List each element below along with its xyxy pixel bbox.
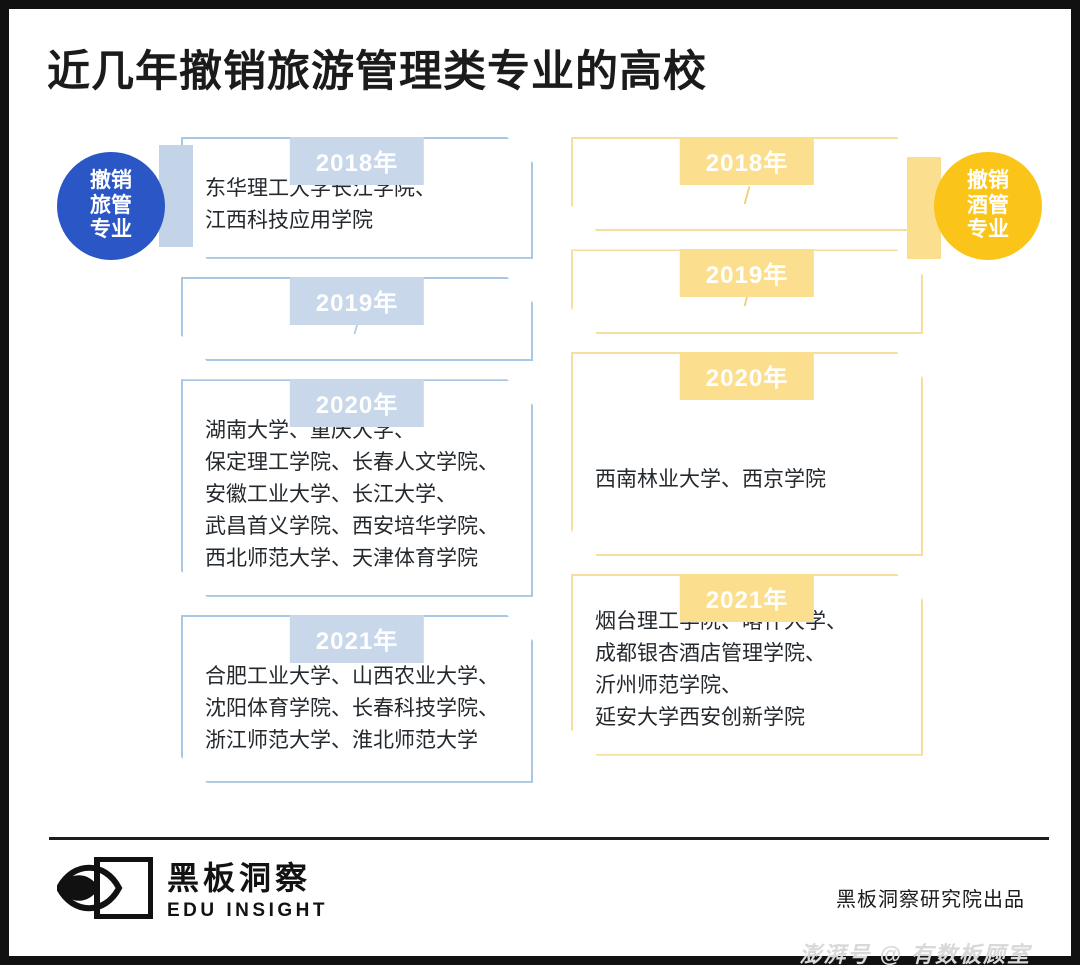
card-wrap-right-2021: 2021年 烟台理工学院、喀什大学、 成都银杏酒店管理学院、 沂州师范学院、 延…: [571, 574, 923, 756]
logo-name-cn: 黑板洞察: [167, 862, 328, 894]
card-wrap-right-2020: 2020年 西南林业大学、西京学院: [571, 352, 923, 556]
year-label-left-2018: 2018年: [290, 137, 424, 185]
card-wrap-left-2019: 2019年 /: [181, 277, 533, 361]
column-tourism-management: 2018年 东华理工大学长江学院、 江西科技应用学院 2019年 / 2020年…: [181, 119, 533, 801]
card-wrap-right-2019: 2019年 /: [571, 249, 923, 333]
year-label-right-2020: 2020年: [680, 352, 814, 400]
year-label-left-2020: 2020年: [290, 379, 424, 427]
column-hotel-management: 2018年 / 2019年 / 2020年 西南林业大学、西京学院 2021年 …: [571, 119, 923, 774]
badge-tourism-management: 撤销 旅管 专业: [57, 152, 165, 260]
year-label-right-2021: 2021年: [680, 574, 814, 622]
footer-divider: [49, 837, 1049, 840]
card-wrap-left-2020: 2020年 湖南大学、重庆大学、 保定理工学院、长春人文学院、 安徽工业大学、长…: [181, 379, 533, 597]
page-title: 近几年撤销旅游管理类专业的高校: [47, 37, 707, 99]
year-label-right-2018: 2018年: [680, 137, 814, 185]
badge-hotel-management: 撤销 酒管 专业: [934, 152, 1042, 260]
logo-text-group: 黑板洞察 EDU INSIGHT: [167, 862, 328, 920]
year-label-right-2019: 2019年: [680, 249, 814, 297]
card-wrap-left-2018: 2018年 东华理工大学长江学院、 江西科技应用学院: [181, 137, 533, 259]
logo-name-en: EDU INSIGHT: [167, 901, 328, 920]
eye-logo-icon: [57, 857, 153, 924]
year-label-left-2019: 2019年: [290, 277, 424, 325]
brand-logo: 黑板洞察 EDU INSIGHT: [57, 857, 328, 924]
year-label-left-2021: 2021年: [290, 615, 424, 663]
card-wrap-right-2018: 2018年 /: [571, 137, 923, 231]
credit-text: 黑板洞察研究院出品: [836, 883, 1025, 912]
watermark-text: 澎湃号 @ 有数板顾室: [799, 937, 1031, 969]
card-wrap-left-2021: 2021年 合肥工业大学、山西农业大学、 沈阳体育学院、长春科技学院、 浙江师范…: [181, 615, 533, 783]
page-frame: 近几年撤销旅游管理类专业的高校 撤销 旅管 专业 撤销 酒管 专业 2018年 …: [0, 0, 1080, 965]
